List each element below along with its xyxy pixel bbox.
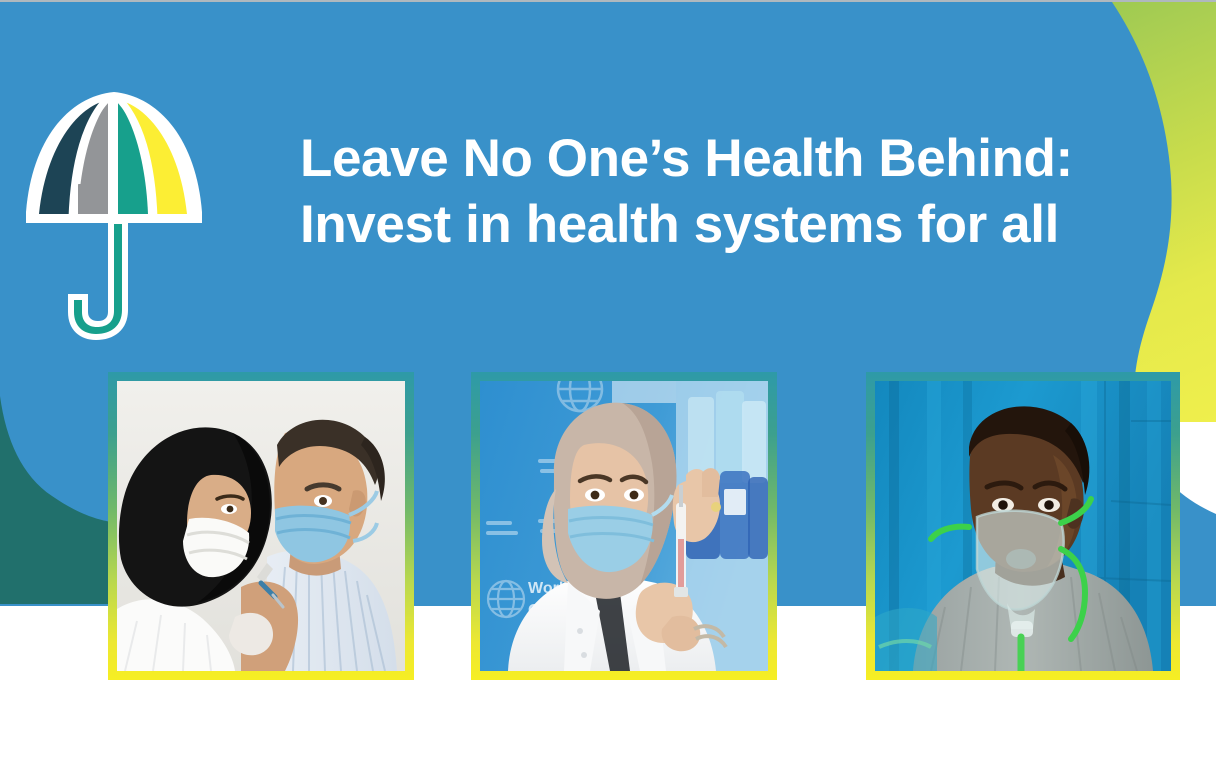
headline-line-1: Leave No One’s Health Behind: bbox=[300, 126, 1040, 192]
photo-vaccination bbox=[117, 381, 405, 671]
photo-frame-syringe[interactable]: Worl Org bbox=[471, 372, 777, 680]
photo-oxygen bbox=[875, 381, 1171, 671]
campaign-banner: Leave No One’s Health Behind: Invest in … bbox=[0, 0, 1216, 774]
photo-frame-oxygen[interactable]: Man in a grey t-shirt wearing an oxygen … bbox=[866, 372, 1180, 680]
headline-line-2: Invest in health systems for all bbox=[300, 192, 1040, 258]
page-title: Leave No One’s Health Behind: Invest in … bbox=[300, 126, 1040, 258]
top-hairline-rule bbox=[0, 0, 1216, 2]
photo-syringe: Worl Org bbox=[480, 381, 768, 671]
umbrella-logo bbox=[18, 72, 248, 344]
photo-frame-vaccination[interactable]: Health worker in black hijab and white m… bbox=[108, 372, 414, 680]
